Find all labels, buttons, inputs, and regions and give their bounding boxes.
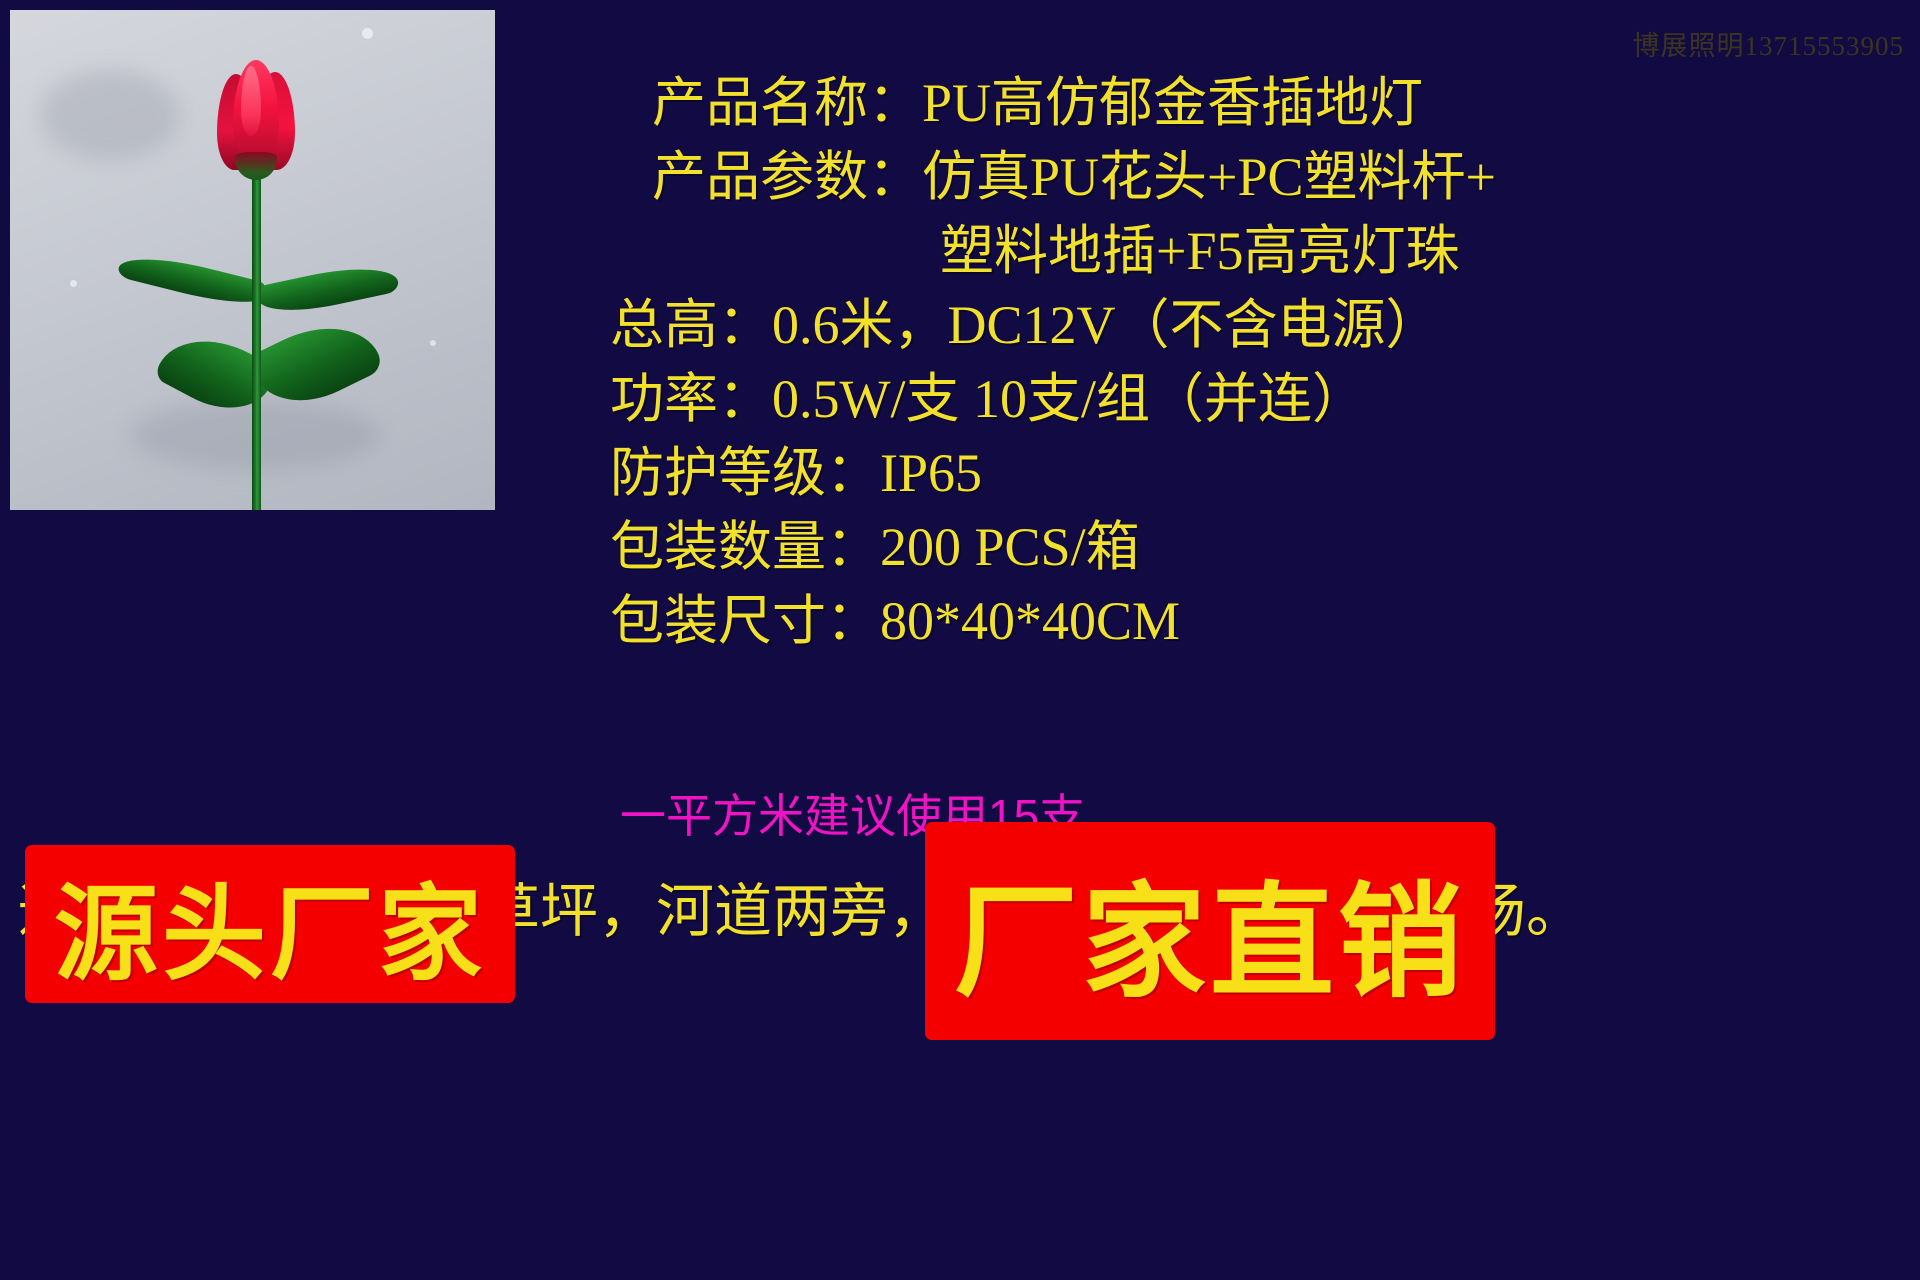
banner-factory-direct-sale: 厂家直销 bbox=[925, 822, 1495, 1040]
spec-package-size: 包装尺寸：80*40*40CM bbox=[610, 584, 1910, 658]
leaf-right bbox=[256, 258, 400, 320]
spec-power: 功率：0.5W/支 10支/组（并连） bbox=[610, 362, 1910, 436]
banner-source-factory: 源头厂家 bbox=[25, 845, 515, 1003]
product-photo bbox=[10, 10, 495, 510]
flower-stem bbox=[252, 150, 261, 510]
spec-total-height: 总高：0.6米，DC12V（不含电源） bbox=[610, 288, 1910, 362]
specification-block: 产品名称：PU高仿郁金香插地灯 产品参数：仿真PU花头+PC塑料杆+ 塑料地插+… bbox=[610, 66, 1910, 658]
leaf-left bbox=[117, 247, 270, 312]
watermark-text: 博展照明13715553905 bbox=[1633, 24, 1905, 63]
spec-product-params-2: 塑料地插+F5高亮灯珠 bbox=[610, 214, 1910, 288]
tulip-bud bbox=[211, 60, 299, 175]
spec-product-name: 产品名称：PU高仿郁金香插地灯 bbox=[610, 66, 1910, 140]
spec-ip-rating: 防护等级：IP65 bbox=[610, 436, 1910, 510]
spec-product-params: 产品参数：仿真PU花头+PC塑料杆+ bbox=[610, 140, 1910, 214]
spec-package-qty: 包装数量：200 PCS/箱 bbox=[610, 510, 1910, 584]
banner-factory-direct-sale-label: 厂家直销 bbox=[954, 841, 1466, 1021]
banner-source-factory-label: 源头厂家 bbox=[54, 849, 486, 1000]
product-advertisement-page: 博展照明13715553905 产品名称：PU高仿郁金香插地灯 产品参数：仿真P… bbox=[0, 0, 1920, 1280]
